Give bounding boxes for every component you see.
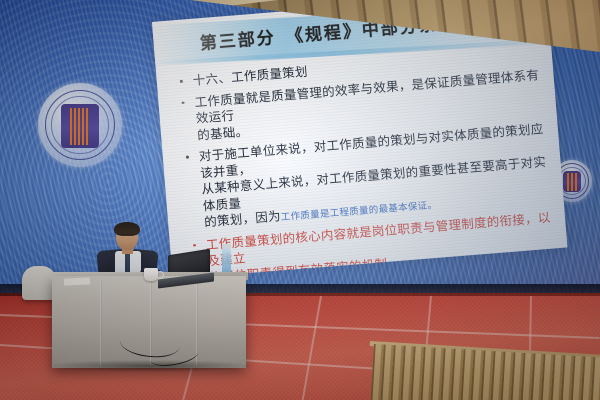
emblem-left-icon <box>38 83 122 167</box>
screenshot-root: 第三部分 《规程》中部分条文的解读 十六、工作质量策划工作质量就是质量管理的效率… <box>0 0 600 400</box>
glasses-icon <box>117 234 137 240</box>
slide-bullet-line: 的基础。 <box>197 123 249 142</box>
tablecloth-fold <box>100 280 102 366</box>
papers <box>64 277 90 285</box>
emblem-accent-bars <box>567 173 577 191</box>
slide-content: 第三部分 《规程》中部分条文的解读 十六、工作质量策划工作质量就是质量管理的效率… <box>152 0 567 279</box>
teacup-handle <box>156 271 164 279</box>
slide-bullet-line: 十六、工作质量策划 <box>192 64 308 88</box>
presenter-tie <box>125 252 130 274</box>
emblem-accent-bars <box>70 108 90 145</box>
projected-slide: 第三部分 《规程》中部分条文的解读 十六、工作质量策划工作质量就是质量管理的效率… <box>152 0 567 279</box>
